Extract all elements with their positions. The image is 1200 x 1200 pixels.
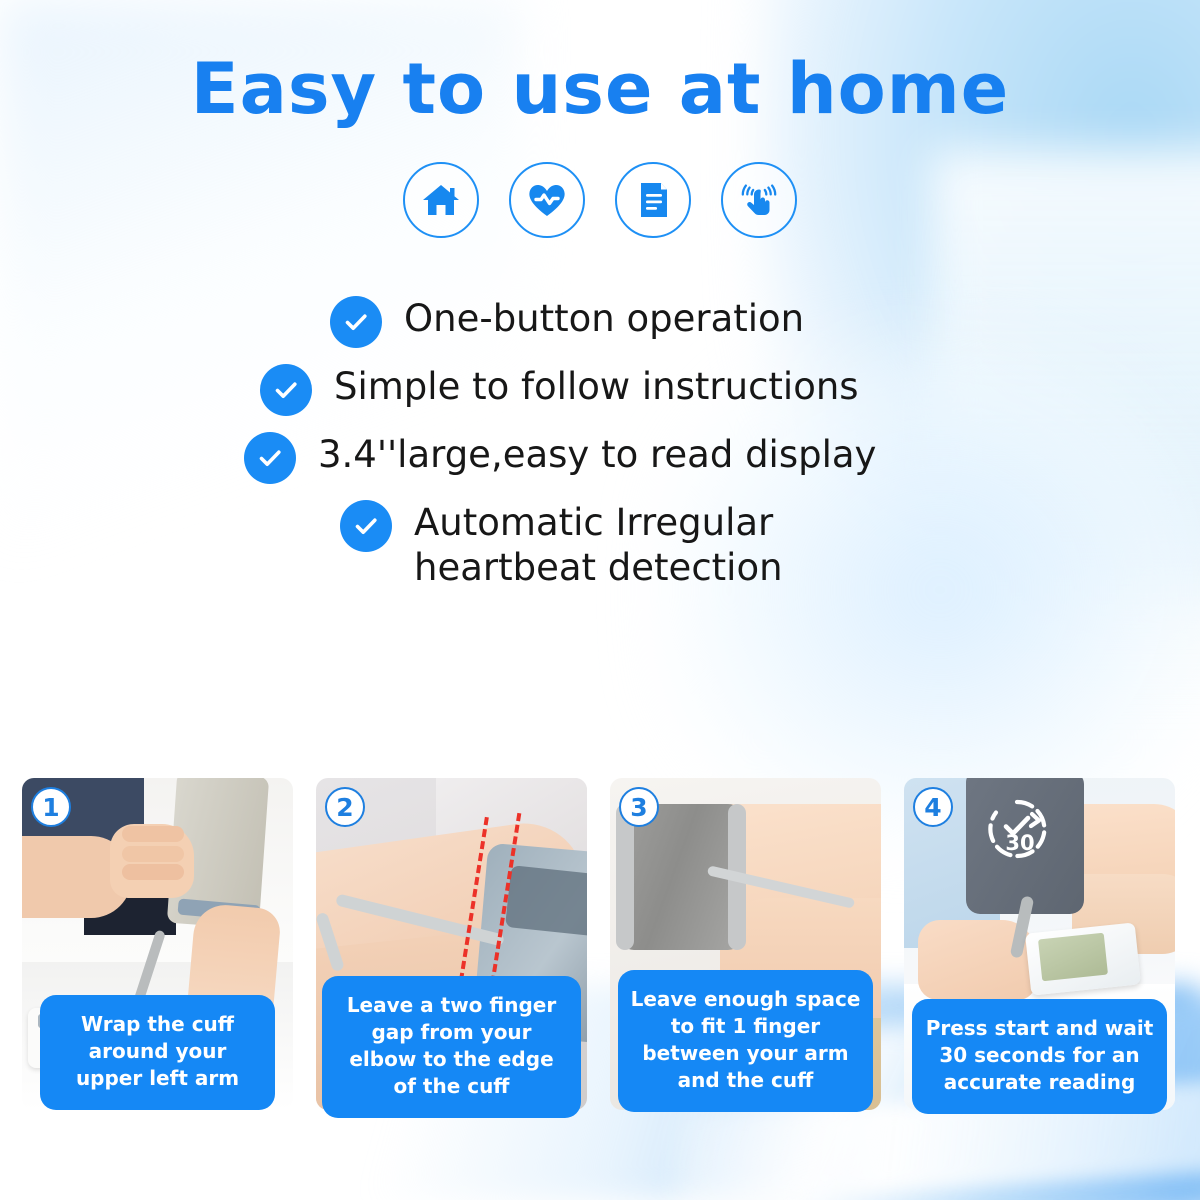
step-caption: Leave a two finger gap from your elbow t… [322,976,581,1118]
check-icon [244,432,296,484]
home-icon [403,162,479,238]
feature-item: Simple to follow instructions [0,358,1200,416]
document-icon [615,162,691,238]
step-caption: Press start and wait 30 seconds for an a… [912,999,1167,1114]
step-caption: Wrap the cuff around your upper left arm [40,995,275,1110]
step-number-badge: 1 [31,787,71,827]
check-icon [330,296,382,348]
feature-label: Automatic Irregular heartbeat detection [414,494,783,590]
feature-item: Automatic Irregular heartbeat detection [0,494,1200,590]
step-card: 2 Leave a two finger gap from your elbow… [316,778,587,1110]
feature-label: One-button operation [404,290,804,341]
feature-label: 3.4''large,easy to read display [318,426,876,477]
timer-30s-icon: 30 [980,792,1054,866]
check-icon [340,500,392,552]
step-number-badge: 3 [619,787,659,827]
feature-item: One-button operation [0,290,1200,348]
step-caption: Leave enough space to fit 1 finger betwe… [618,970,873,1112]
step-card: 3 Leave enough space to fit 1 finger bet… [610,778,881,1110]
step-number-badge: 4 [913,787,953,827]
check-icon [260,364,312,416]
feature-item: 3.4''large,easy to read display [0,426,1200,484]
step-card: 1 Wrap the cuff around your upper left a… [22,778,293,1110]
tap-touch-icon [721,162,797,238]
feature-list: One-button operation Simple to follow in… [0,290,1200,600]
timer-seconds-label: 30 [1005,831,1034,855]
step-number-badge: 2 [325,787,365,827]
heartbeat-icon [509,162,585,238]
feature-icon-row [0,162,1200,238]
step-card: 30 4 Press start and wait 30 seconds for… [904,778,1175,1110]
page-title: Easy to use at home [0,48,1200,130]
promo-page: Easy to use at home [0,0,1200,1200]
feature-label: Simple to follow instructions [334,358,859,409]
step-card-list: 1 Wrap the cuff around your upper left a… [22,778,1180,1110]
